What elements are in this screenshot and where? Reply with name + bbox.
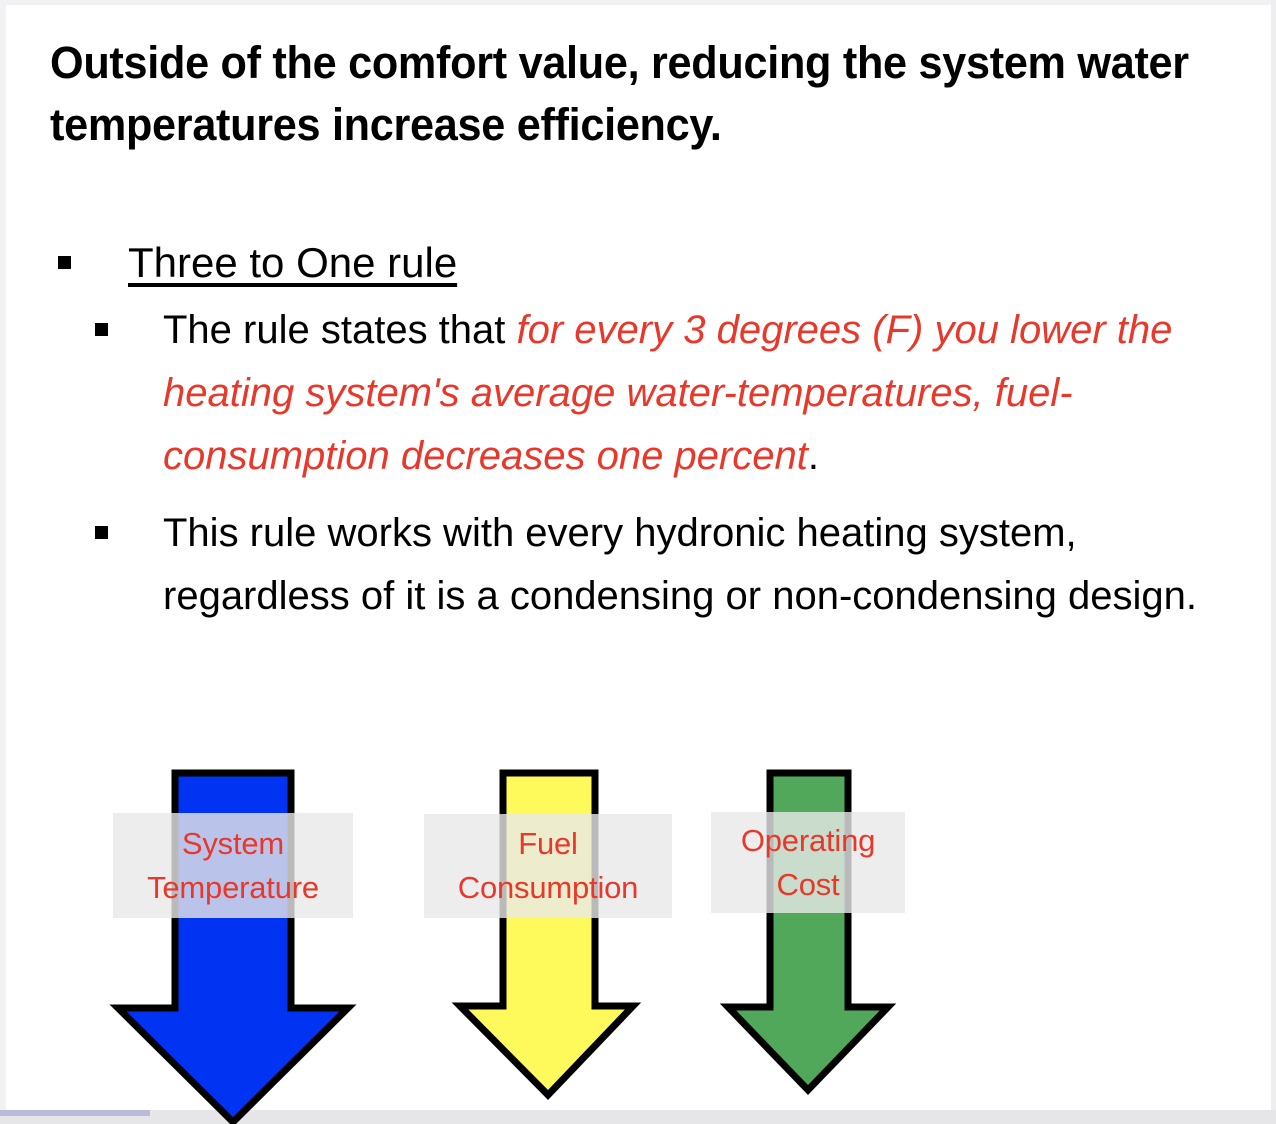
arrow-label-line2: Cost [777, 867, 840, 902]
arrow-label-fuel-consumption: FuelConsumption [424, 814, 672, 918]
arrow-label-line2: Consumption [458, 870, 638, 905]
arrow-label-line1: Operating [741, 823, 875, 858]
bullet-level1-three-to-one-rule: Three to One rule [50, 237, 1250, 289]
arrow-label-operating-cost-text: OperatingCost [741, 819, 875, 907]
arrow-label-line2: Temperature [147, 870, 319, 905]
arrow-label-fuel-consumption-text: FuelConsumption [458, 822, 638, 910]
arrow-label-operating-cost: OperatingCost [711, 812, 905, 913]
rule-statement-suffix: . [808, 434, 819, 478]
bullet-level2-rule-statement-text: The rule states that for every 3 degrees… [163, 308, 1172, 478]
arrow-label-line1: System [182, 826, 284, 861]
slide-frame-top-edge [0, 0, 1276, 5]
slide-body-list: Three to One rule The rule states that f… [50, 237, 1250, 642]
rule-statement-prefix: The rule states that [163, 308, 517, 352]
square-bullet-icon [95, 323, 108, 336]
square-bullet-icon [95, 526, 108, 539]
square-bullet-icon [58, 256, 71, 269]
slide-canvas: Outside of the comfort value, reducing t… [0, 0, 1276, 1124]
bullet-level1-label: Three to One rule [128, 239, 457, 286]
arrow-label-system-temperature: SystemTemperature [113, 813, 353, 918]
down-arrow-diagram: SystemTemperature FuelConsumption Operat… [0, 760, 1276, 1124]
bullet-level2-rule-statement: The rule states that for every 3 degrees… [50, 299, 1250, 488]
arrow-label-system-temperature-text: SystemTemperature [147, 822, 319, 910]
arrow-label-line1: Fuel [518, 826, 578, 861]
bullet-level2-applicability-text: This rule works with every hydronic heat… [163, 511, 1197, 618]
bullet-level2-applicability: This rule works with every hydronic heat… [50, 502, 1250, 628]
slide-title: Outside of the comfort value, reducing t… [50, 32, 1207, 156]
